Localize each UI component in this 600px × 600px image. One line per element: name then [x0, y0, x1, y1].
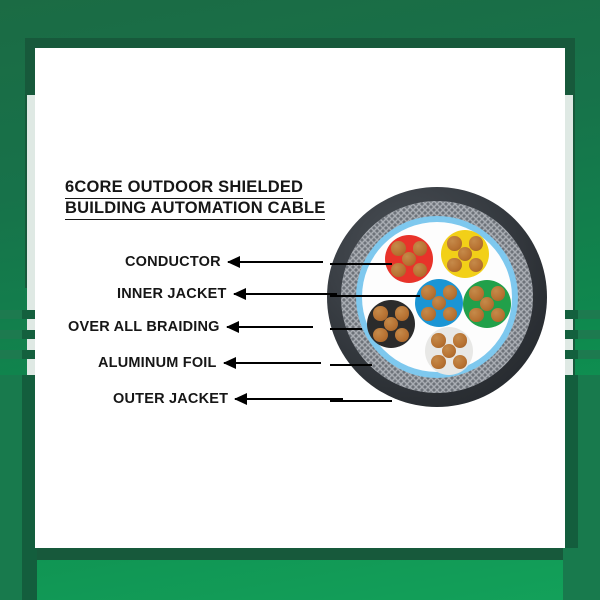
conductor-strand: [469, 236, 484, 251]
conductor-strand: [469, 308, 484, 323]
black-core: [367, 300, 415, 348]
callout-label: OUTER JACKET: [113, 391, 228, 407]
callout-label: OVER ALL BRAIDING: [68, 319, 220, 335]
conductor-strand: [447, 258, 462, 273]
conductor-strand: [395, 306, 410, 321]
stripe-right-3-dark: [563, 350, 578, 359]
arrow-left-icon: [224, 362, 321, 364]
callout-braiding[interactable]: OVER ALL BRAIDING: [68, 319, 313, 335]
leader-line-foil: [330, 364, 372, 366]
callout-label: INNER JACKET: [117, 286, 227, 302]
conductor-strand: [373, 328, 388, 343]
title-line-2: BUILDING AUTOMATION CABLE: [65, 199, 325, 220]
page-title: 6CORE OUTDOOR SHIELDED BUILDING AUTOMATI…: [65, 178, 365, 220]
poster-canvas: 6CORE OUTDOOR SHIELDED BUILDING AUTOMATI…: [0, 0, 600, 600]
conductor-strand: [431, 355, 446, 370]
conductor-strand: [453, 355, 468, 370]
callout-aluminum-foil[interactable]: ALUMINUM FOIL: [98, 355, 321, 371]
callout-inner-jacket[interactable]: INNER JACKET: [117, 286, 337, 302]
green-block-right-dark: [563, 375, 578, 548]
conductor-strand: [413, 241, 428, 256]
arrow-left-icon: [228, 261, 323, 263]
frame-corner-bottom: [25, 548, 575, 560]
conductor-strand: [491, 286, 506, 301]
cable-cross-section: [327, 187, 547, 407]
green-core: [463, 280, 511, 328]
conductor-strand: [395, 328, 410, 343]
arrow-left-icon: [227, 326, 313, 328]
red-core: [385, 235, 433, 283]
callout-outer-jacket[interactable]: OUTER JACKET: [113, 391, 343, 407]
leader-line-conductor: [330, 263, 392, 265]
leader-line-inner-jacket: [330, 295, 420, 297]
conductor-strand: [391, 263, 406, 278]
callout-label: ALUMINUM FOIL: [98, 355, 217, 371]
stripe-right-1-dark: [563, 310, 578, 319]
conductor-strand: [469, 258, 484, 273]
conductor-strand: [413, 263, 428, 278]
white-core: [425, 327, 473, 375]
arrow-left-icon: [234, 293, 337, 295]
leader-line-braiding: [330, 328, 362, 330]
stripe-right-2-dark: [563, 330, 578, 339]
callout-conductor[interactable]: CONDUCTOR: [125, 254, 323, 270]
callout-label: CONDUCTOR: [125, 254, 221, 270]
conductor-strand: [443, 307, 458, 322]
conductor-strand: [491, 308, 506, 323]
arrow-left-icon: [235, 398, 343, 400]
conductor-strand: [453, 333, 468, 348]
conductor-strand: [421, 307, 436, 322]
yellow-core: [441, 230, 489, 278]
conductor-strand: [443, 285, 458, 300]
blue-core: [415, 279, 463, 327]
title-line-1: 6CORE OUTDOOR SHIELDED: [65, 178, 303, 199]
